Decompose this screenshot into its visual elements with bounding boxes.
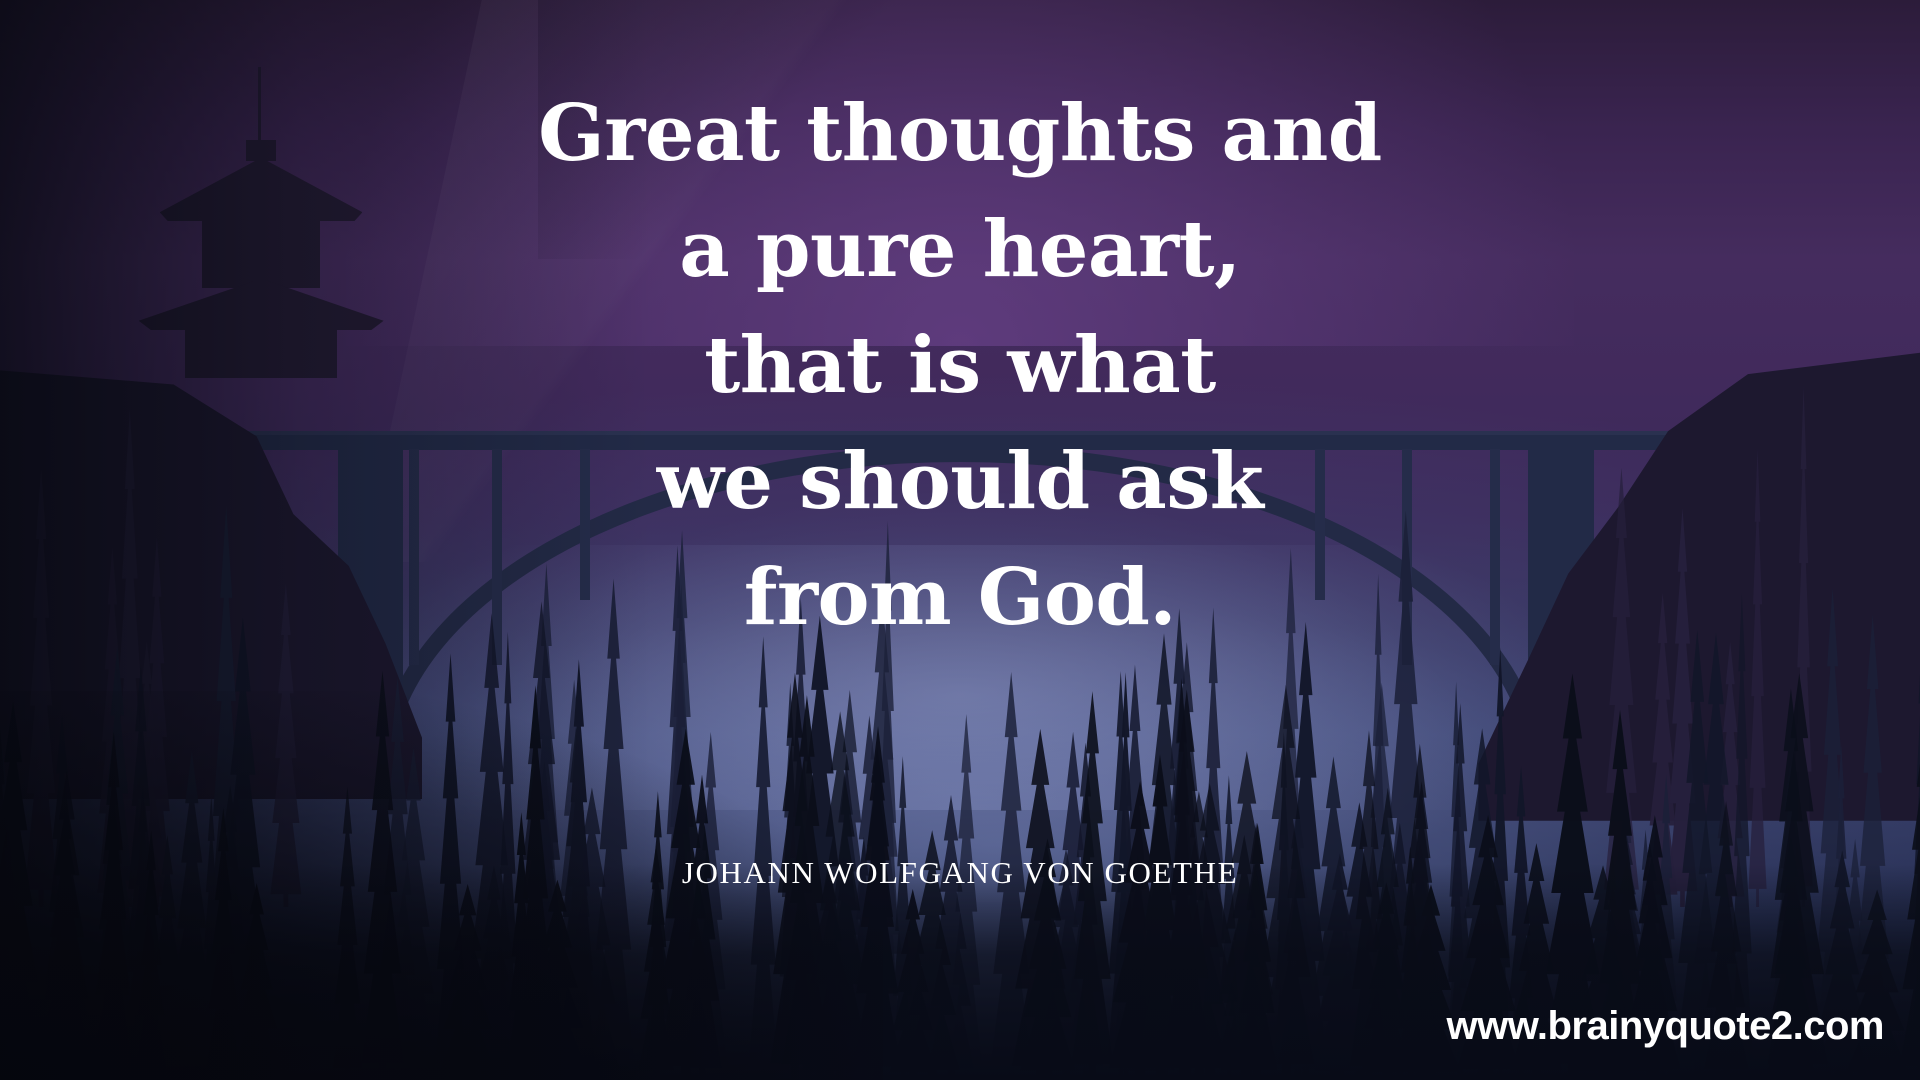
quote-line: we should ask	[0, 424, 1920, 540]
quote-line: a pure heart,	[0, 192, 1920, 308]
site-watermark: www.brainyquote2.com	[1447, 1004, 1884, 1049]
quote-line: from God.	[0, 540, 1920, 656]
quote-text: Great thoughts and a pure heart, that is…	[0, 76, 1920, 656]
quote-author: JOHANN WOLFGANG VON GOETHE	[0, 855, 1920, 891]
quote-line: that is what	[0, 308, 1920, 424]
quote-line: Great thoughts and	[0, 76, 1920, 192]
quote-image-canvas: Great thoughts and a pure heart, that is…	[0, 0, 1920, 1080]
